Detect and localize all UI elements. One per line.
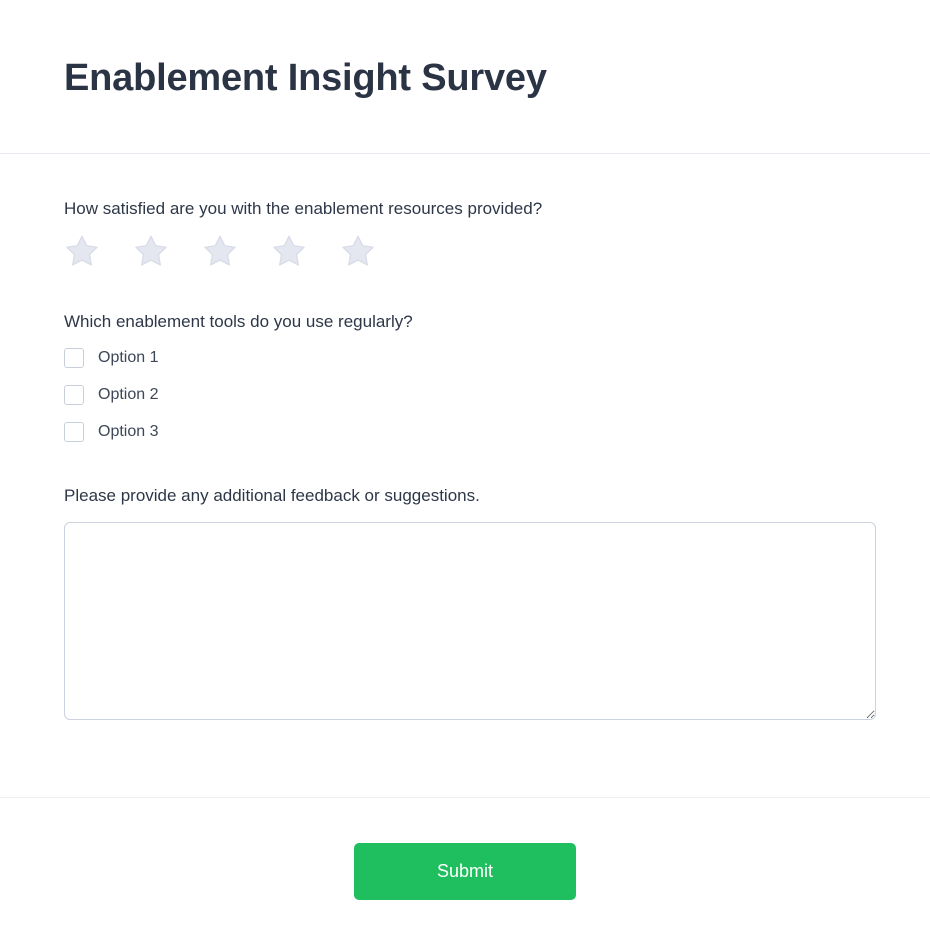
feedback-textarea[interactable]: [64, 522, 876, 720]
question-feedback: Please provide any additional feedback o…: [64, 485, 866, 720]
survey-header: Enablement Insight Survey: [0, 0, 930, 154]
page-title: Enablement Insight Survey: [64, 53, 547, 101]
checkbox-row[interactable]: Option 2: [64, 384, 866, 406]
star-icon-1[interactable]: [64, 233, 100, 269]
survey-footer: Submit: [0, 798, 930, 945]
star-icon-4[interactable]: [271, 233, 307, 269]
checkbox-row[interactable]: Option 1: [64, 347, 866, 369]
checkbox-row[interactable]: Option 3: [64, 421, 866, 443]
submit-button[interactable]: Submit: [354, 843, 576, 900]
checkbox-group: Option 1 Option 2 Option 3: [64, 347, 866, 443]
star-icon-5[interactable]: [340, 233, 376, 269]
checkbox-option-2[interactable]: [64, 385, 84, 405]
star-rating-input[interactable]: [64, 231, 866, 271]
star-icon-3[interactable]: [202, 233, 238, 269]
question-checkboxes-label: Which enablement tools do you use regula…: [64, 311, 866, 333]
checkbox-option-3[interactable]: [64, 422, 84, 442]
survey-page: Enablement Insight Survey How satisfied …: [0, 0, 930, 945]
question-rating: How satisfied are you with the enablemen…: [64, 198, 866, 271]
checkbox-option-3-label[interactable]: Option 3: [98, 422, 158, 442]
checkbox-option-1-label[interactable]: Option 1: [98, 348, 158, 368]
question-rating-label: How satisfied are you with the enablemen…: [64, 198, 866, 220]
question-checkboxes: Which enablement tools do you use regula…: [64, 311, 866, 443]
star-icon-2[interactable]: [133, 233, 169, 269]
question-feedback-label: Please provide any additional feedback o…: [64, 485, 866, 507]
checkbox-option-1[interactable]: [64, 348, 84, 368]
checkbox-option-2-label[interactable]: Option 2: [98, 385, 158, 405]
survey-body: How satisfied are you with the enablemen…: [0, 154, 930, 798]
